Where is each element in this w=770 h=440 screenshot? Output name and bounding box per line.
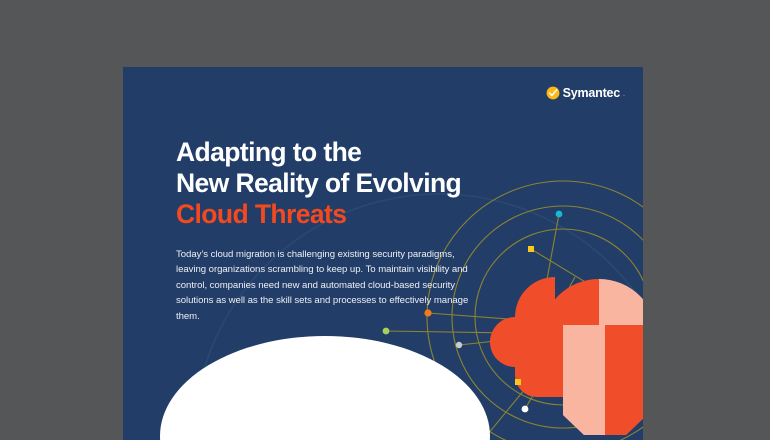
headline-line-3: Cloud Threats <box>176 199 506 230</box>
headline-line-2: New Reality of Evolving <box>176 168 506 199</box>
node-yellow-upper <box>528 246 534 252</box>
brand-trademark: . <box>623 91 625 100</box>
cloud-shield-icon <box>490 277 643 435</box>
headline-line-1: Adapting to the <box>176 137 506 168</box>
symantec-check-circle-icon <box>546 86 560 100</box>
white-circle-decoration <box>160 336 490 440</box>
node-yellow-lower <box>515 379 521 385</box>
body-paragraph: Today’s cloud migration is challenging e… <box>176 247 476 325</box>
hero-card: Symantec . Adapting to the New Reality o… <box>123 67 643 440</box>
symantec-logo: Symantec . <box>546 86 625 100</box>
node-white <box>522 406 529 413</box>
screenshot-canvas: Symantec . Adapting to the New Reality o… <box>0 0 770 440</box>
node-gray <box>456 342 462 348</box>
brand-wordmark: Symantec <box>563 87 620 100</box>
node-cyan <box>556 211 563 218</box>
node-green <box>383 328 390 335</box>
page-title: Adapting to the New Reality of Evolving … <box>176 137 506 230</box>
